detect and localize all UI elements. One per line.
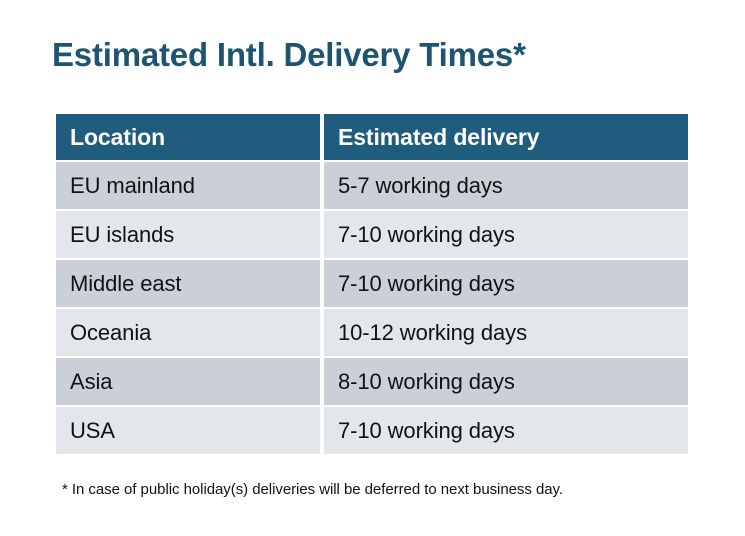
cell-delivery: 5-7 working days [324,162,688,209]
page-title: Estimated Intl. Delivery Times* [52,36,526,74]
cell-delivery: 8-10 working days [324,358,688,405]
table-body: EU mainland 5-7 working days EU islands … [56,162,688,454]
cell-location: Oceania [56,309,320,356]
delivery-times-table: Location Estimated delivery EU mainland … [52,112,692,456]
table-header-row: Location Estimated delivery [56,114,688,160]
column-header-estimated-delivery: Estimated delivery [324,114,688,160]
cell-delivery: 7-10 working days [324,407,688,454]
cell-delivery: 10-12 working days [324,309,688,356]
cell-location: EU mainland [56,162,320,209]
table-row: EU islands 7-10 working days [56,211,688,258]
cell-location: Middle east [56,260,320,307]
cell-delivery: 7-10 working days [324,211,688,258]
table-row: Oceania 10-12 working days [56,309,688,356]
table-row: EU mainland 5-7 working days [56,162,688,209]
table-header: Location Estimated delivery [56,114,688,160]
table-row: USA 7-10 working days [56,407,688,454]
cell-delivery: 7-10 working days [324,260,688,307]
footnote-text: * In case of public holiday(s) deliverie… [62,481,563,498]
column-header-location: Location [56,114,320,160]
table-row: Middle east 7-10 working days [56,260,688,307]
cell-location: Asia [56,358,320,405]
delivery-times-page: Estimated Intl. Delivery Times* Location… [0,0,745,536]
cell-location: EU islands [56,211,320,258]
cell-location: USA [56,407,320,454]
table-row: Asia 8-10 working days [56,358,688,405]
